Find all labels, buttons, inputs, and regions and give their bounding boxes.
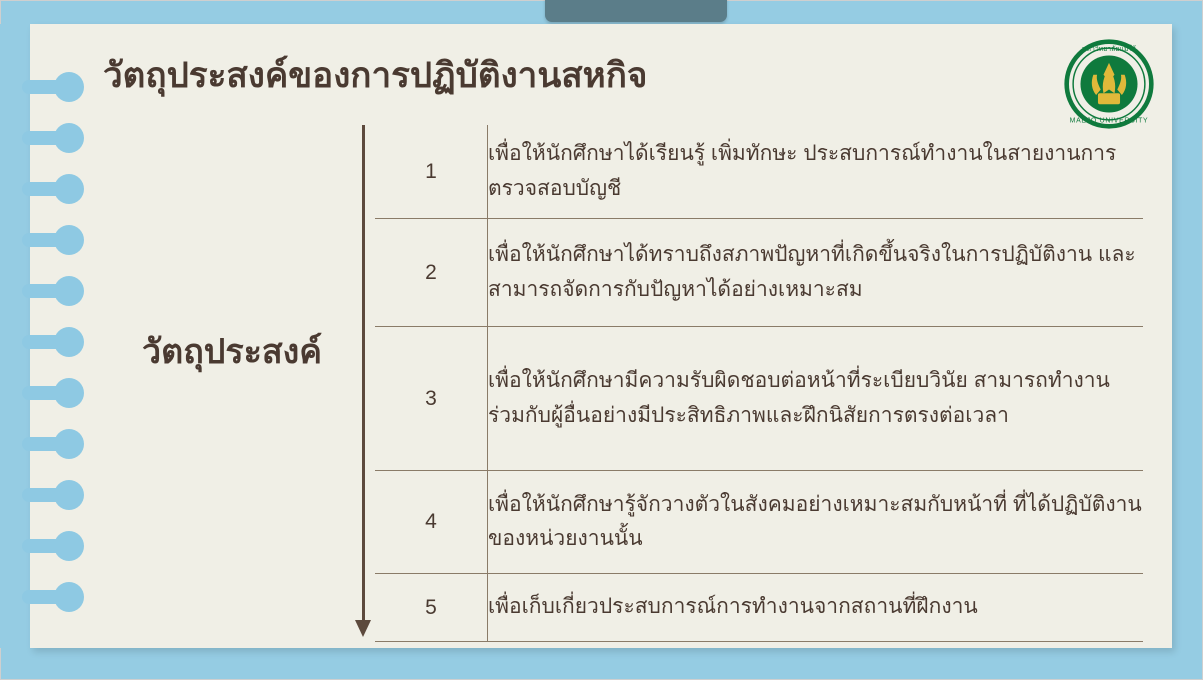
binder-ring-bead [54,225,84,255]
objective-number: 4 [375,471,488,574]
table-row: 5เพื่อเก็บเกี่ยวประสบการณ์การทำงานจากสถา… [375,574,1143,642]
binder-ring-bead [54,327,84,357]
objective-number: 2 [375,219,488,327]
flow-arrow-line [362,125,365,623]
table-row: 2เพื่อให้นักศึกษาได้ทราบถึงสภาพปัญหาที่เ… [375,219,1143,327]
objective-number: 3 [375,327,488,471]
binder-ring [22,233,78,247]
binder-ring-bead [54,582,84,612]
binder-ring [22,131,78,145]
objective-number: 5 [375,574,488,642]
top-tab-decoration [545,0,727,22]
objectives-table: 1เพื่อให้นักศึกษาได้เรียนรู้ เพิ่มทักษะ … [375,125,1143,642]
objective-text: เพื่อเก็บเกี่ยวประสบการณ์การทำงานจากสถาน… [488,574,1144,642]
binder-ring-bead [54,429,84,459]
svg-text:มหาวิทยาลัยแม่โจ้: มหาวิทยาลัยแม่โจ้ [1082,44,1136,53]
objective-text: เพื่อให้นักศึกษาได้เรียนรู้ เพิ่มทักษะ ป… [488,125,1144,219]
binder-ring-bead [54,123,84,153]
binder-ring [22,80,78,94]
page-title: วัตถุประสงค์ของการปฏิบัติงานสหกิจ [103,48,647,103]
objective-number: 1 [375,125,488,219]
binder-ring [22,539,78,553]
objective-text: เพื่อให้นักศึกษาได้ทราบถึงสภาพปัญหาที่เก… [488,219,1144,327]
maejo-university-logo-icon: มหาวิทยาลัยแม่โจ้ MAEJO UNIVERSITY [1063,38,1155,130]
section-label: วัตถุประสงค์ [112,324,352,378]
objective-text: เพื่อให้นักศึกษารู้จักวางตัวในสังคมอย่าง… [488,471,1144,574]
table-row: 3เพื่อให้นักศึกษามีความรับผิดชอบต่อหน้าท… [375,327,1143,471]
binder-ring [22,590,78,604]
binder-ring [22,437,78,451]
table-row: 1เพื่อให้นักศึกษาได้เรียนรู้ เพิ่มทักษะ … [375,125,1143,219]
binder-ring-bead [54,276,84,306]
svg-text:MAEJO UNIVERSITY: MAEJO UNIVERSITY [1070,118,1149,125]
slide-canvas: วัตถุประสงค์ของการปฏิบัติงานสหกิจ มหาวิท… [0,0,1203,680]
binder-ring [22,284,78,298]
binder-ring [22,182,78,196]
objective-text: เพื่อให้นักศึกษามีความรับผิดชอบต่อหน้าที… [488,327,1144,471]
binder-ring-bead [54,72,84,102]
binder-ring-bead [54,480,84,510]
binder-ring-bead [54,531,84,561]
binder-ring [22,386,78,400]
flow-arrow-head-icon [355,620,371,637]
binder-ring [22,335,78,349]
binder-ring-bead [54,378,84,408]
binder-ring-bead [54,174,84,204]
table-row: 4เพื่อให้นักศึกษารู้จักวางตัวในสังคมอย่า… [375,471,1143,574]
binder-ring [22,488,78,502]
